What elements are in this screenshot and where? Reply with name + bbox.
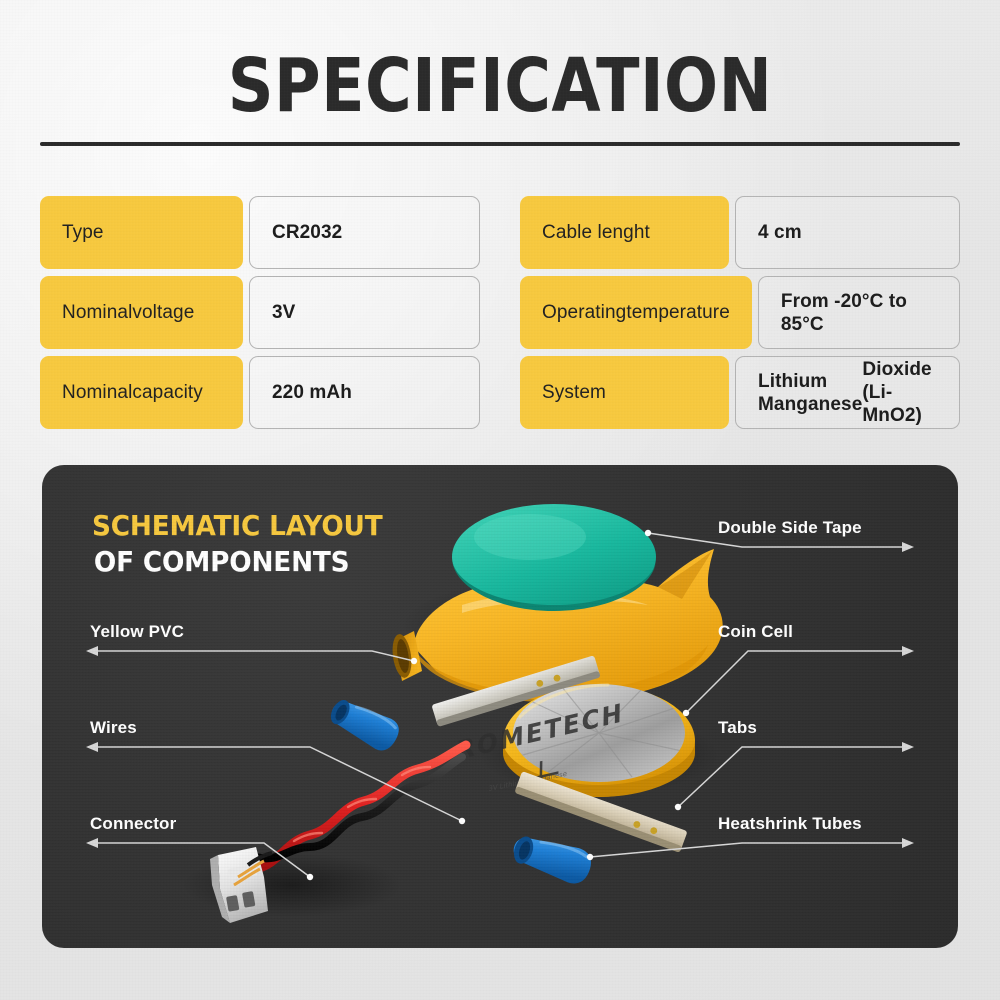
- table-row: Operatingtemperature From -20°C to 85°C: [520, 276, 960, 349]
- callout-label-coin-cell: Coin Cell: [718, 621, 793, 642]
- spec-value-system: Lithium ManganeseDioxide (Li-MnO2): [735, 356, 960, 429]
- spec-column-right: Cable lenght 4 cm Operatingtemperature F…: [520, 196, 960, 429]
- specification-table: Type CR2032 Nominalvoltage 3V Nominalcap…: [40, 196, 960, 429]
- spec-value-nominal-voltage: 3V: [249, 276, 480, 349]
- spec-value-nominal-capacity: 220 mAh: [249, 356, 480, 429]
- schematic-heading-line-2: OF COMPONENTS: [94, 544, 383, 580]
- spec-value-operating-temperature: From -20°C to 85°C: [758, 276, 960, 349]
- spec-key-system: System: [520, 356, 729, 429]
- callout-label-yellow-pvc: Yellow PVC: [90, 621, 184, 642]
- spec-value-cable-length: 4 cm: [735, 196, 960, 269]
- callout-label-tabs: Tabs: [718, 717, 757, 738]
- table-row: System Lithium ManganeseDioxide (Li-MnO2…: [520, 356, 960, 429]
- table-row: Cable lenght 4 cm: [520, 196, 960, 269]
- table-row: Nominalvoltage 3V: [40, 276, 480, 349]
- table-row: Nominalcapacity 220 mAh: [40, 356, 480, 429]
- spec-value-type: CR2032: [249, 196, 480, 269]
- page-title: SPECIFICATION: [70, 46, 930, 126]
- schematic-panel: ROMETECH 3V Lithium Manganese: [42, 465, 958, 948]
- title-divider: [40, 142, 960, 146]
- spec-column-left: Type CR2032 Nominalvoltage 3V Nominalcap…: [40, 196, 480, 429]
- table-row: Type CR2032: [40, 196, 480, 269]
- callout-label-double-side-tape: Double Side Tape: [718, 517, 862, 538]
- callout-label-wires: Wires: [90, 717, 137, 738]
- spec-key-nominal-capacity: Nominalcapacity: [40, 356, 243, 429]
- spec-key-nominal-voltage: Nominalvoltage: [40, 276, 243, 349]
- callout-label-connector: Connector: [90, 813, 176, 834]
- spec-key-operating-temperature: Operatingtemperature: [520, 276, 752, 349]
- schematic-heading-line-1: SCHEMATIC LAYOUT: [92, 508, 382, 544]
- spec-key-type: Type: [40, 196, 243, 269]
- callout-label-heatshrink-tubes: Heatshrink Tubes: [718, 813, 862, 834]
- schematic-heading: SCHEMATIC LAYOUT OF COMPONENTS: [92, 508, 382, 580]
- infographic-page: SPECIFICATION Type CR2032 Nominalvoltage…: [0, 0, 1000, 1000]
- spec-key-cable-length: Cable lenght: [520, 196, 729, 269]
